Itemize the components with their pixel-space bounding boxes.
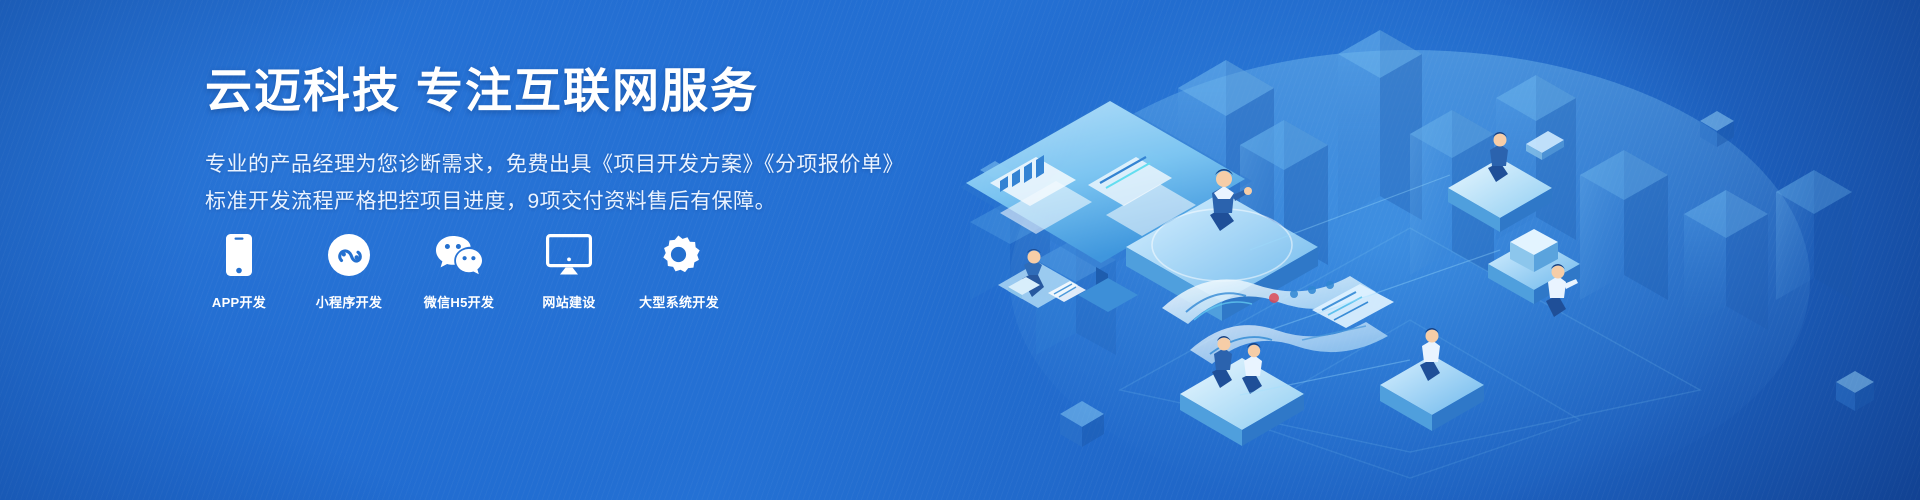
service-icon-row: APP开发 小程序开发 (205, 232, 713, 311)
gear-icon (657, 232, 701, 278)
service-label-app: APP开发 (212, 292, 266, 311)
isometric-illustration (940, 0, 1920, 500)
service-label-miniprogram: 小程序开发 (316, 292, 383, 311)
service-item-wechat[interactable]: 微信H5开发 (425, 232, 493, 311)
service-item-system[interactable]: 大型系统开发 (645, 232, 713, 311)
service-item-miniprogram[interactable]: 小程序开发 (315, 232, 383, 311)
service-label-wechat: 微信H5开发 (424, 292, 494, 311)
service-label-website: 网站建设 (542, 292, 595, 311)
banner-subtitle: 专业的产品经理为您诊断需求，免费出具《项目开发方案》《分项报价单》 标准开发流程… (205, 147, 905, 221)
mobile-phone-icon (225, 232, 253, 278)
promo-banner: 云迈科技 专注互联网服务 专业的产品经理为您诊断需求，免费出具《项目开发方案》《… (0, 0, 1920, 500)
mini-program-icon (327, 232, 371, 278)
service-item-website[interactable]: 网站建设 (535, 232, 603, 311)
page-title: 云迈科技 专注互联网服务 (205, 66, 905, 117)
subtitle-line-1: 专业的产品经理为您诊断需求，免费出具《项目开发方案》《分项报价单》 (205, 147, 905, 184)
service-label-system: 大型系统开发 (639, 292, 719, 311)
service-item-app[interactable]: APP开发 (205, 232, 273, 311)
wechat-icon (435, 232, 483, 278)
banner-content: 云迈科技 专注互联网服务 专业的产品经理为您诊断需求，免费出具《项目开发方案》《… (205, 66, 905, 220)
subtitle-line-2: 标准开发流程严格把控项目进度，9项交付资料售后有保障。 (205, 184, 905, 221)
monitor-icon (546, 232, 592, 278)
